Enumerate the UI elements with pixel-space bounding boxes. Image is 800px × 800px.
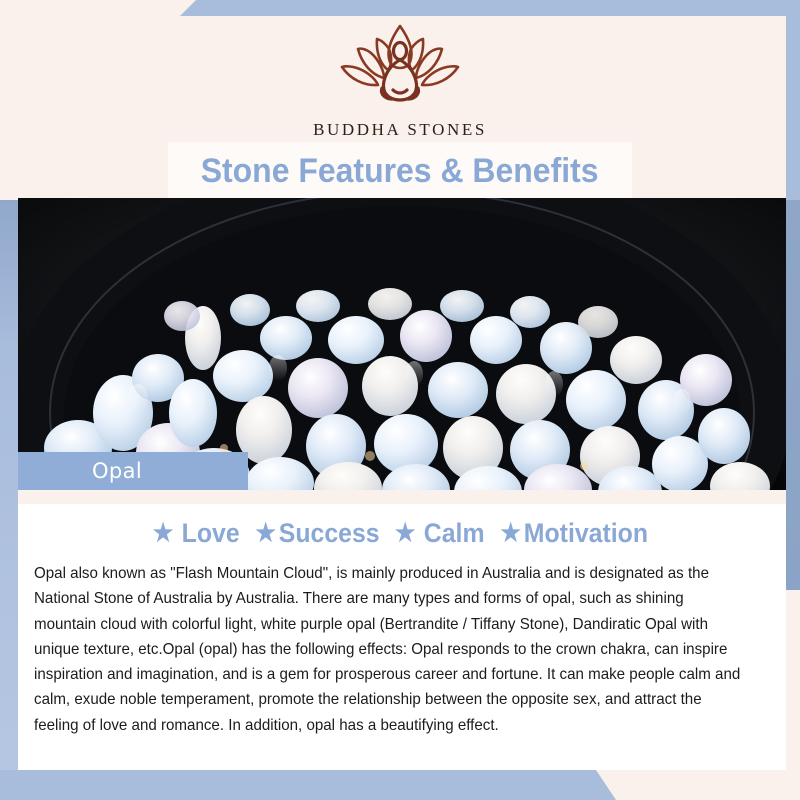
infographic-page: BUDDHA STONES Stone Features & Benefits xyxy=(0,0,800,800)
star-icon: ★ xyxy=(153,521,174,546)
benefit-love: ★ Love xyxy=(153,518,240,549)
right-accent-rail xyxy=(786,200,800,590)
benefit-label: Calm xyxy=(424,518,485,549)
benefit-motivation: ★ Motivation xyxy=(501,518,649,549)
content-panel: ★ Love ★ Success ★ Calm ★ Motivation Opa… xyxy=(18,504,786,770)
star-icon: ★ xyxy=(395,521,416,546)
stone-name-text: Opal xyxy=(92,459,142,483)
left-accent-rail xyxy=(0,200,18,790)
opal-stones-photo xyxy=(18,198,786,490)
photo-separator-strip xyxy=(18,490,786,504)
brand-name: BUDDHA STONES xyxy=(0,120,800,140)
benefit-label: Love xyxy=(182,518,240,549)
opal-photo-illustration xyxy=(18,198,786,490)
benefits-list: ★ Love ★ Success ★ Calm ★ Motivation xyxy=(18,504,786,549)
page-title: Stone Features & Benefits xyxy=(201,152,599,191)
benefit-success: ★ Success xyxy=(255,518,379,549)
brand-logo: BUDDHA STONES xyxy=(0,18,800,140)
lotus-meditation-icon xyxy=(320,18,480,118)
star-icon: ★ xyxy=(501,521,522,546)
star-icon: ★ xyxy=(255,521,276,546)
stone-name-label: Opal xyxy=(18,452,248,490)
description-text: Opal also known as "Flash Mountain Cloud… xyxy=(34,561,748,738)
top-right-accent-rail xyxy=(786,0,800,200)
benefit-calm: ★ Calm xyxy=(395,518,485,549)
benefit-label: Success xyxy=(279,518,380,549)
title-band: Stone Features & Benefits xyxy=(168,142,632,200)
benefit-label: Motivation xyxy=(524,518,648,549)
